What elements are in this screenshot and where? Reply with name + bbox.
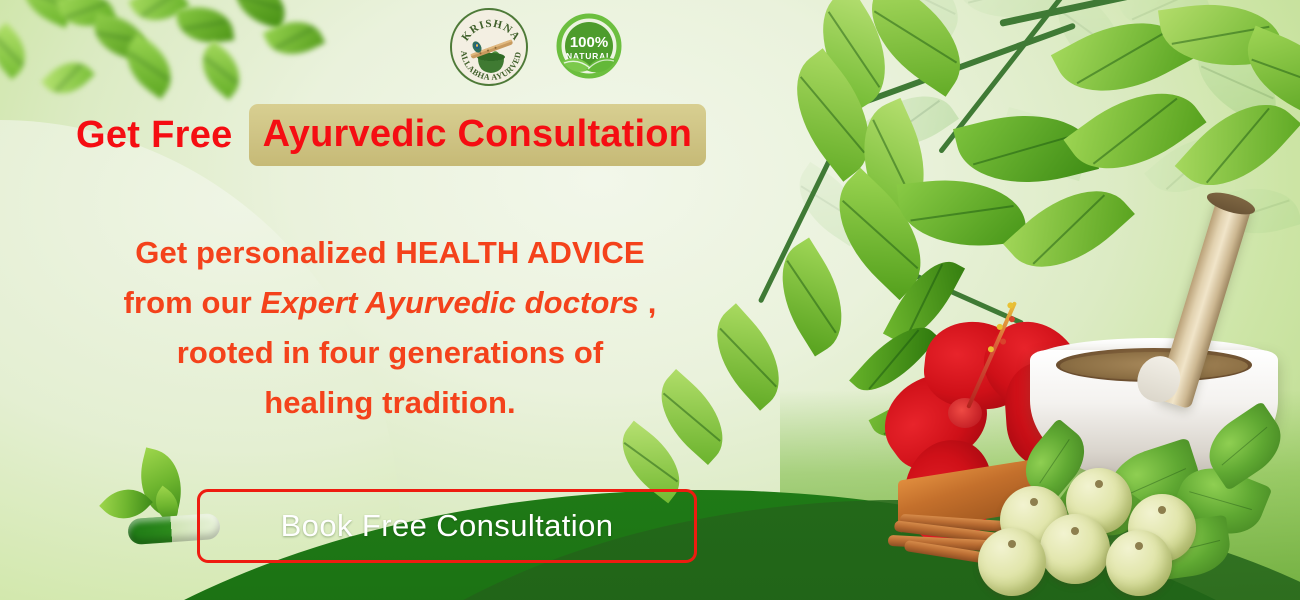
cinnamon-bark: [898, 459, 1034, 533]
amla-fruit-3: [1128, 494, 1196, 562]
hibiscus-stamen: [966, 301, 1017, 409]
mint-leaf-6: [1013, 418, 1096, 504]
body-line-2-emphasis: Expert Ayurvedic doctors: [260, 285, 639, 320]
krishna-logo-top-text: KRISHNA: [459, 18, 522, 43]
sprout-leaf-main: [131, 447, 191, 518]
pestle-cap: [1205, 188, 1258, 219]
svg-text:KRISHNA: KRISHNA: [459, 18, 522, 43]
amla-fruit-5: [1106, 530, 1172, 596]
amla-fruit-6: [978, 528, 1046, 596]
hundred-percent-natural-badge: 100% NATURAL: [550, 8, 628, 86]
mortar-rim: [1030, 338, 1278, 384]
red-hibiscus-flower: [880, 320, 1080, 490]
body-line-2-suffix: ,: [639, 285, 656, 320]
mortar-bowl-interior: [1056, 348, 1252, 382]
headline-plain-text: Get Free: [76, 114, 249, 157]
cinnamon-sticks: [898, 470, 1048, 556]
body-line-2-prefix: from our: [124, 285, 261, 320]
body-copy: Get personalized HEALTH ADVICE from our …: [60, 228, 720, 428]
headline-highlighted-text: Ayurvedic Consultation: [249, 104, 707, 166]
wooden-pestle: [1156, 196, 1252, 409]
mint-leaf-3: [1197, 401, 1293, 491]
sprout-leaf-left: [99, 477, 153, 531]
amla-fruit-2: [1066, 468, 1132, 534]
pestle-band: [1132, 351, 1186, 407]
body-line-3: rooted in four generations of: [60, 328, 720, 378]
amla-fruit-1: [1000, 486, 1068, 554]
mortar-and-pestle: [1030, 350, 1278, 482]
hibiscus-center: [948, 398, 982, 428]
natural-badge-percent: 100%: [570, 34, 608, 51]
mint-leaf-5: [1146, 515, 1233, 582]
logo-row: KRISHNA VALLABHA AYURVEDA: [450, 8, 628, 86]
mint-leaf-1: [1100, 437, 1208, 528]
body-line-4: healing tradition.: [60, 378, 720, 428]
krishna-vallabha-ayurveda-logo: KRISHNA VALLABHA AYURVEDA: [450, 8, 528, 86]
headline: Get Free Ayurvedic Consultation: [76, 104, 706, 166]
mint-leaf-4: [1055, 461, 1147, 548]
mint-leaf-2: [1170, 456, 1273, 546]
body-line-2: from our Expert Ayurvedic doctors ,: [60, 278, 720, 328]
ayurvedic-consultation-banner: KRISHNA VALLABHA AYURVEDA: [0, 0, 1300, 600]
sprout-leaf-small: [147, 486, 187, 525]
right-green-base: [780, 390, 1300, 600]
body-line-1: Get personalized HEALTH ADVICE: [60, 228, 720, 278]
book-free-consultation-button[interactable]: Book Free Consultation: [197, 489, 697, 563]
amla-fruit-4: [1040, 514, 1110, 584]
cta-label: Book Free Consultation: [281, 508, 614, 544]
herbal-powder: [1060, 352, 1248, 380]
